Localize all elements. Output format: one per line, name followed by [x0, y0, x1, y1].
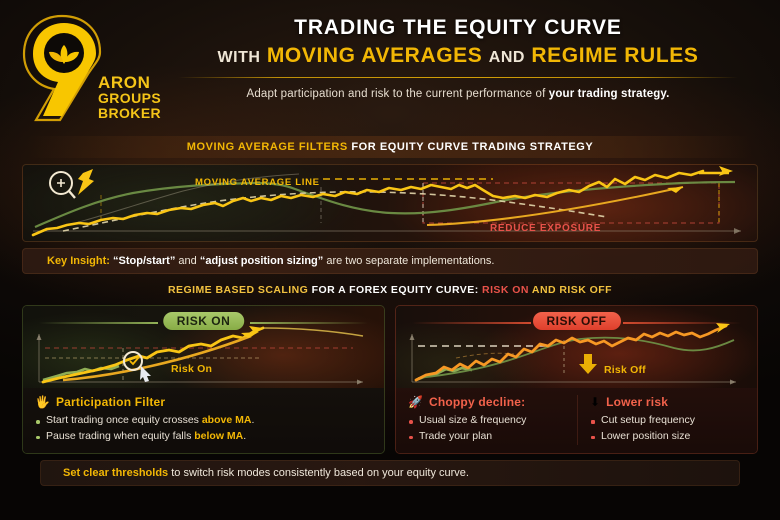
pill-rail-right [623, 322, 742, 324]
bullet-bold: below MA [194, 430, 243, 442]
infographic-root: ARON GROUPS BROKER TRADING THE EQUITY CU… [0, 0, 780, 520]
pill-rail-left [412, 322, 531, 324]
list-item: Lower position size [590, 429, 747, 445]
choppy-decline-list: Usual size & frequency Trade your plan [408, 413, 565, 445]
section-banner-ma-filters: MOVING AVERAGE FILTERS FOR EQUITY CURVE … [28, 136, 752, 158]
title-with: WITH [218, 49, 261, 66]
subtitle: Adapt participation and risk to the curr… [150, 88, 766, 100]
regime-banner-text: REGIME BASED SCALING FOR A FOREX EQUITY … [168, 284, 612, 296]
pill-rail-left [39, 322, 158, 324]
lower-risk-head: ⬇ Lower risk [590, 395, 747, 409]
main-chart-svg [23, 165, 758, 241]
page-title: TRADING THE EQUITY CURVE [150, 16, 766, 40]
lower-risk-title: Lower risk [606, 395, 668, 409]
participation-filter-title: Participation Filter [56, 395, 165, 409]
up-arrow-icon [78, 169, 94, 195]
risk-off-column-lower-risk: ⬇ Lower risk Cut setup frequency Lower p… [577, 395, 747, 445]
lower-risk-list: Cut setup frequency Lower position size [590, 413, 747, 445]
risk-off-columns: 🚀 Choppy decline: Usual size & frequency… [408, 395, 747, 445]
label-moving-average-line: MOVING AVERAGE LINE [195, 177, 320, 188]
footer-bold: Set clear thresholds [63, 467, 168, 479]
bullet-text: Start trading once equity crosses [46, 414, 202, 426]
risk-off-lists: 🚀 Choppy decline: Usual size & frequency… [396, 388, 757, 453]
main-equity-chart: MOVING AVERAGE LINE REDUCE EXPOSURE [22, 164, 758, 242]
inline-tag-risk-on: Risk On [171, 363, 212, 375]
section-banner-text: MOVING AVERAGE FILTERS FOR EQUITY CURVE … [187, 141, 593, 153]
page-subtitle-title: WITH MOVING AVERAGES AND REGIME RULES [150, 44, 766, 68]
section-banner-tail: STRATEGY [530, 141, 593, 153]
mini-chart-risk-on: RISK ON [23, 306, 384, 388]
list-item: Trade your plan [408, 429, 565, 445]
down-arrow-marker-icon [579, 354, 597, 374]
regime-banner: REGIME BASED SCALING FOR A FOREX EQUITY … [22, 280, 758, 300]
footer-tail: to switch risk modes consistently based … [168, 467, 469, 479]
magnifier-plus-icon [50, 172, 75, 198]
participation-filter-list: Start trading once equity crosses above … [35, 413, 374, 445]
list-item: Start trading once equity crosses above … [35, 413, 374, 429]
pill-risk-off: RISK OFF [533, 312, 621, 330]
title-regime-rules: REGIME RULES [531, 44, 698, 67]
participation-filter-block: 🖐 Participation Filter Start trading onc… [23, 388, 384, 453]
subtitle-bold: your trading strategy. [549, 88, 670, 100]
bullet-bold: above MA [202, 414, 252, 426]
regime-banner-gold: REGIME BASED SCALING [168, 284, 308, 296]
hand-stop-icon: 🖐 [35, 396, 50, 408]
card-risk-on: RISK ON [22, 305, 385, 454]
regime-banner-risk-off: AND RISK OFF [529, 284, 612, 296]
bullet-tail: . [251, 414, 254, 426]
brand-logo: ARON GROUPS BROKER [10, 6, 150, 134]
regime-banner-risk-on: RISK ON [482, 284, 529, 296]
regime-banner-white: FOR A FOREX EQUITY CURVE: [308, 284, 482, 296]
key-insight-tail: are two separate implementations. [323, 255, 494, 267]
footer-bar: Set clear thresholds to switch risk mode… [40, 460, 740, 486]
bullet-tail: . [243, 430, 246, 442]
brand-name: ARON GROUPS BROKER [98, 74, 161, 120]
pill-rail-right [250, 322, 369, 324]
brand-line-3: BROKER [98, 106, 161, 120]
key-insight-mid: and [178, 255, 199, 267]
key-insight-quote-2: “adjust position sizing” [200, 255, 323, 267]
brand-line-2: GROUPS [98, 91, 161, 105]
participation-filter-head: 🖐 Participation Filter [35, 395, 374, 409]
regime-cards: RISK ON [22, 305, 758, 454]
title-moving-averages: MOVING AVERAGES [267, 44, 483, 67]
footer-text: Set clear thresholds to switch risk mode… [63, 467, 469, 479]
key-insight-bar: Key Insight: “Stop/start” and “adjust po… [22, 248, 758, 274]
risk-off-column-choppy: 🚀 Choppy decline: Usual size & frequency… [408, 395, 565, 445]
key-insight-text: Key Insight: “Stop/start” and “adjust po… [47, 255, 494, 267]
down-arrow-icon: ⬇ [590, 396, 600, 408]
brand-line-1: ARON [98, 74, 161, 91]
choppy-decline-title: Choppy decline: [429, 395, 525, 409]
bullet-text: Pause trading when equity falls [46, 430, 194, 442]
label-reduce-exposure: REDUCE EXPOSURE [490, 223, 601, 234]
title-divider [178, 77, 738, 78]
section-banner-white: FOR EQUITY CURVE TRADING [348, 141, 530, 153]
list-item: Usual size & frequency [408, 413, 565, 429]
choppy-decline-head: 🚀 Choppy decline: [408, 395, 565, 409]
section-banner-gold: MOVING AVERAGE FILTERS [187, 141, 348, 153]
aron-nine-leaf-logo-icon [16, 12, 108, 124]
key-insight-quote-1: “Stop/start” [110, 255, 178, 267]
pill-risk-on: RISK ON [163, 312, 245, 330]
mini-chart-risk-off: RISK OFF [396, 306, 757, 388]
key-insight-label: Key Insight: [47, 255, 110, 267]
card-risk-off: RISK OFF [395, 305, 758, 454]
rocket-down-icon: 🚀 [408, 396, 423, 408]
header: ARON GROUPS BROKER TRADING THE EQUITY CU… [0, 0, 780, 132]
title-block: TRADING THE EQUITY CURVE WITH MOVING AVE… [150, 6, 766, 100]
inline-tag-risk-off: Risk Off [604, 364, 646, 376]
subtitle-lead: Adapt participation and risk to the curr… [247, 88, 549, 100]
list-item: Pause trading when equity falls below MA… [35, 429, 374, 445]
list-item: Cut setup frequency [590, 413, 747, 429]
title-and: AND [489, 49, 525, 66]
